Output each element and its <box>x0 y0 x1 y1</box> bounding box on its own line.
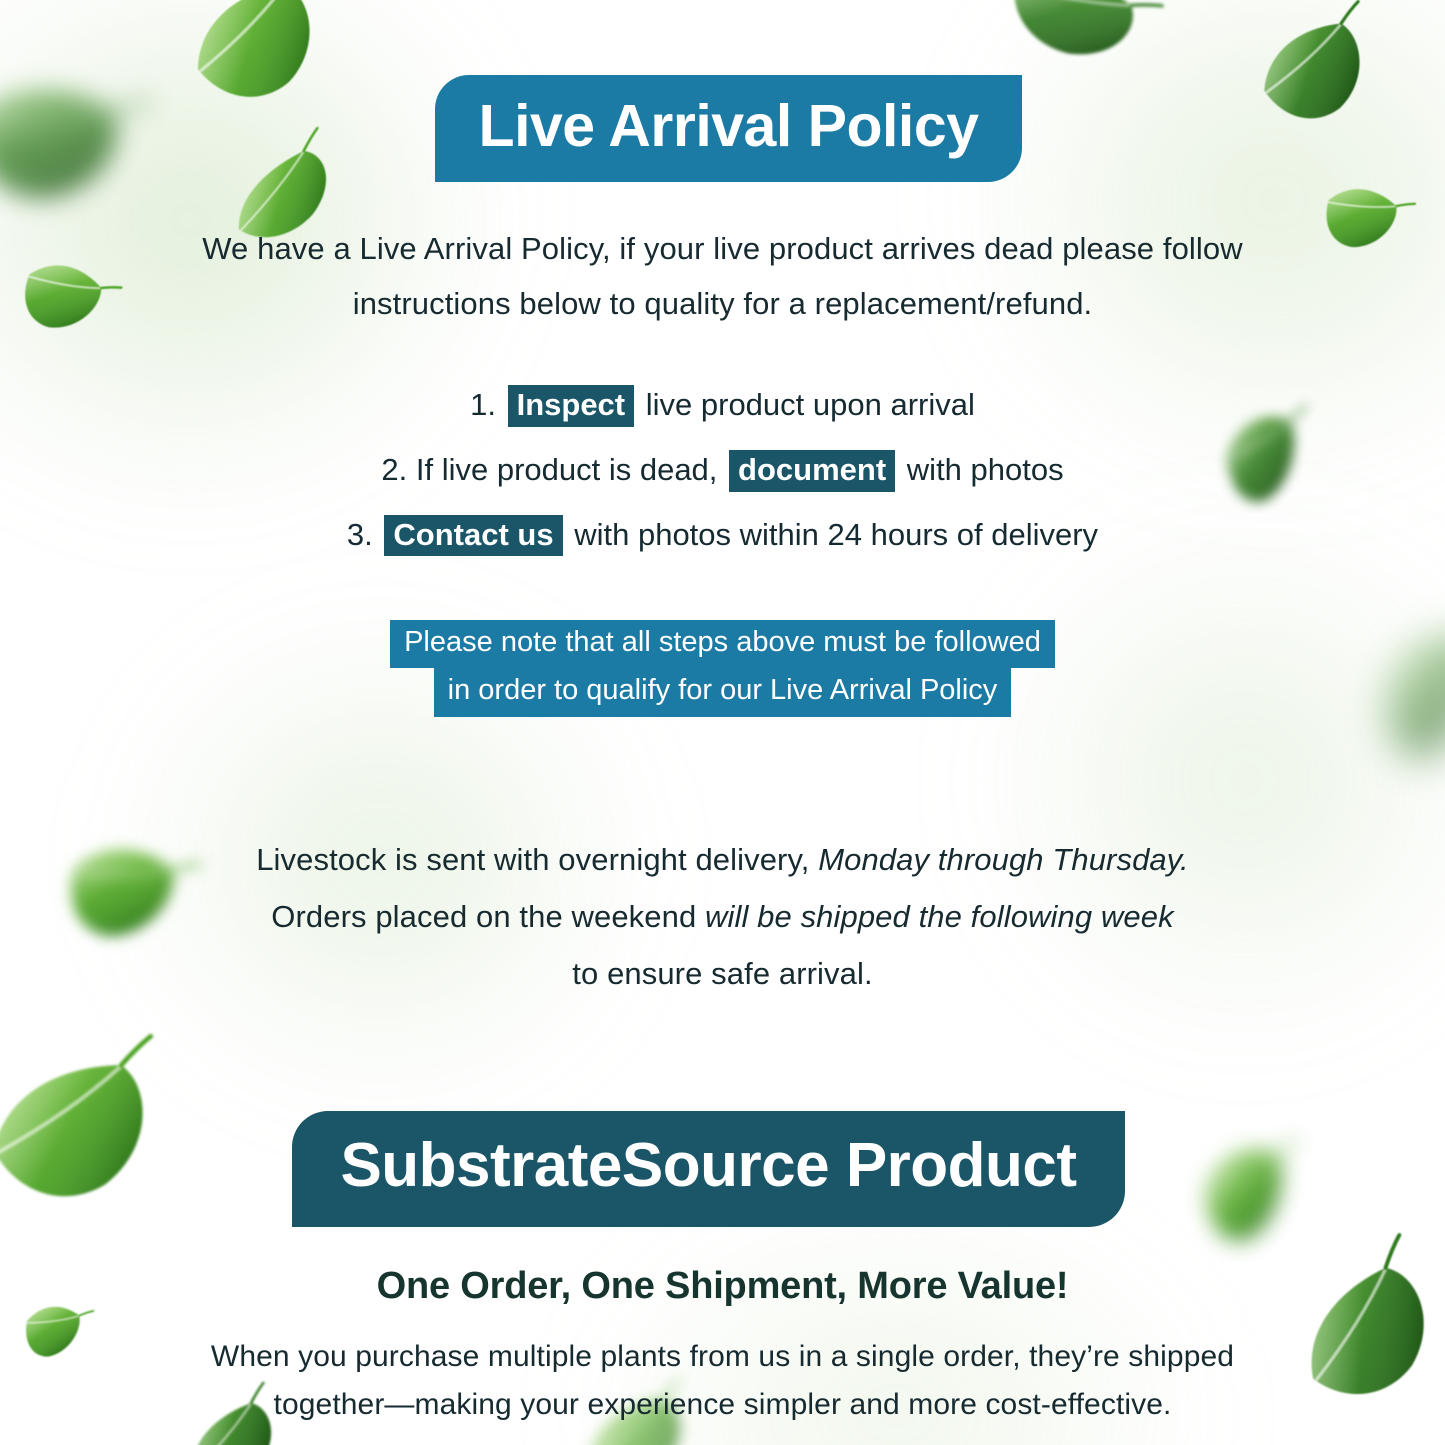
product-body-paragraph: When you purchase multiple plants from u… <box>173 1333 1273 1430</box>
step-number: 2. <box>381 452 407 487</box>
step-text: with photos <box>907 452 1064 487</box>
step-number: 3. <box>347 517 373 552</box>
step-highlight-contact-us: Contact us <box>384 515 562 557</box>
step-highlight-document: document <box>729 450 895 492</box>
step-text-pre: If live product is dead, <box>416 452 718 487</box>
live-arrival-policy-page: Live Arrival Policy We have a Live Arriv… <box>0 0 1445 1445</box>
product-subheading: One Order, One Shipment, More Value! <box>0 1265 1445 1308</box>
step-text: with photos within 24 hours of delivery <box>574 517 1098 552</box>
policy-title-banner: Live Arrival Policy <box>435 75 1023 182</box>
policy-note-block: Please note that all steps above must be… <box>0 620 1445 717</box>
policy-intro-paragraph: We have a Live Arrival Policy, if your l… <box>168 221 1278 331</box>
shipping-line-2: Orders placed on the weekend will be shi… <box>188 888 1258 945</box>
policy-step-3: 3. Contact us with photos within 24 hour… <box>143 515 1303 557</box>
shipping-line-2-emphasis: will be shipped the following week <box>705 899 1174 934</box>
product-title-banner: SubstrateSource Product <box>292 1111 1124 1227</box>
product-body-line-1: When you purchase multiple plants from u… <box>173 1333 1273 1382</box>
policy-intro-line-1: We have a Live Arrival Policy, if your l… <box>168 221 1278 276</box>
product-title-row: SubstrateSource Product <box>0 1111 1445 1227</box>
step-highlight-inspect: Inspect <box>508 385 635 427</box>
shipping-line-1: Livestock is sent with overnight deliver… <box>188 831 1258 888</box>
policy-note-line-1: Please note that all steps above must be… <box>390 620 1055 668</box>
step-number: 1. <box>470 387 496 422</box>
policy-note-line-2: in order to qualify for our Live Arrival… <box>434 668 1012 716</box>
shipping-paragraph: Livestock is sent with overnight deliver… <box>188 831 1258 1003</box>
shipping-line-1-text: Livestock is sent with overnight deliver… <box>256 842 818 877</box>
shipping-line-3: to ensure safe arrival. <box>188 945 1258 1002</box>
shipping-line-2-text: Orders placed on the weekend <box>271 899 705 934</box>
product-body-line-2: together—making your experience simpler … <box>173 1381 1273 1430</box>
shipping-line-1-emphasis: Monday through Thursday. <box>818 842 1189 877</box>
policy-step-2: 2. If live product is dead, document wit… <box>143 450 1303 492</box>
policy-steps-list: 1. Inspect live product upon arrival 2. … <box>143 385 1303 556</box>
policy-step-1: 1. Inspect live product upon arrival <box>143 385 1303 427</box>
policy-title-row: Live Arrival Policy <box>0 0 1445 182</box>
step-text: live product upon arrival <box>646 387 975 422</box>
policy-intro-line-2: instructions below to quality for a repl… <box>168 276 1278 331</box>
